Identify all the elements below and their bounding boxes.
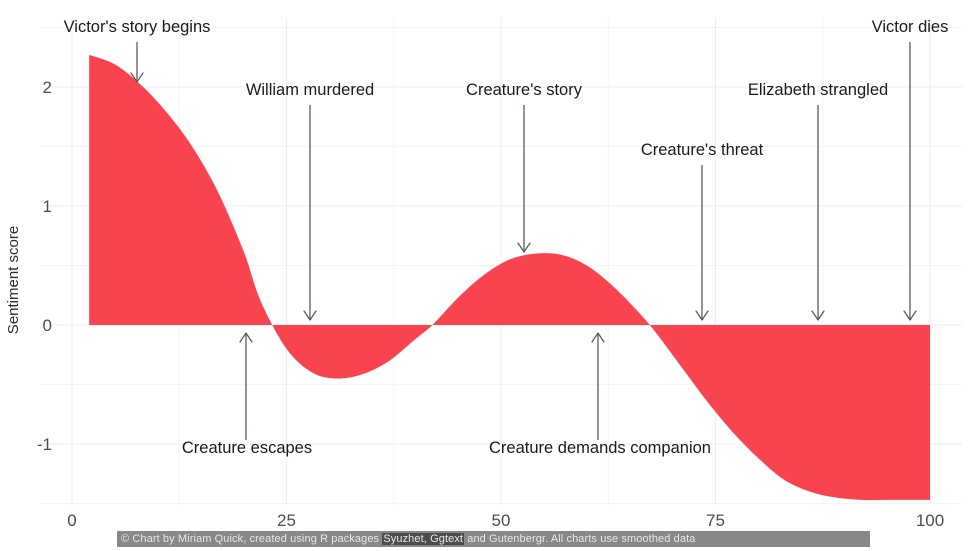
x-axis-tick-label: 75 xyxy=(706,511,725,530)
sentiment-area-path xyxy=(89,55,930,500)
annotation-2: Creature's story xyxy=(466,81,583,252)
y-axis-tick-label: -1 xyxy=(37,435,52,454)
x-axis-ticks-group: 0255075100 xyxy=(67,511,944,530)
annotation-label: Victor dies xyxy=(872,18,949,36)
area-series-group xyxy=(89,55,930,500)
chart-credit-caption: © Chart by Miriam Quick, created using R… xyxy=(117,531,870,547)
annotation-1: William murdered xyxy=(246,81,374,320)
annotation-4: Elizabeth strangled xyxy=(748,81,888,320)
x-axis-tick-label: 100 xyxy=(916,511,944,530)
annotation-3: Creature's threat xyxy=(641,141,764,320)
x-axis-tick-label: 0 xyxy=(67,511,76,530)
annotation-label: Creature escapes xyxy=(182,439,312,457)
annotation-label: Creature's threat xyxy=(641,141,764,159)
y-axis-tick-label: 1 xyxy=(43,197,52,216)
annotation-label: Victor's story begins xyxy=(64,18,211,36)
x-axis-tick-label: 25 xyxy=(277,511,296,530)
annotation-label: Creature's story xyxy=(466,81,583,99)
chart-page: -1012 0255075100 Victor's story beginsWi… xyxy=(0,0,980,551)
caption-highlight: Syuzhet, Ggtext xyxy=(382,533,464,545)
annotation-label: Elizabeth strangled xyxy=(748,81,888,99)
y-axis-title: Sentiment score xyxy=(5,226,22,334)
y-axis-tick-label: 2 xyxy=(43,78,52,97)
x-axis-tick-label: 50 xyxy=(492,511,511,530)
annotation-label: William murdered xyxy=(246,81,374,99)
annotation-5: Victor dies xyxy=(872,18,949,320)
y-axis-tick-label: 0 xyxy=(43,316,52,335)
caption-before: © Chart by Miriam Quick, created using R… xyxy=(121,533,382,545)
caption-after: and Gutenbergr. All charts use smoothed … xyxy=(464,533,695,545)
annotation-label: Creature demands companion xyxy=(489,439,711,457)
sentiment-area-chart: -1012 0255075100 Victor's story beginsWi… xyxy=(0,0,980,551)
annotation-0: Victor's story begins xyxy=(64,18,211,82)
